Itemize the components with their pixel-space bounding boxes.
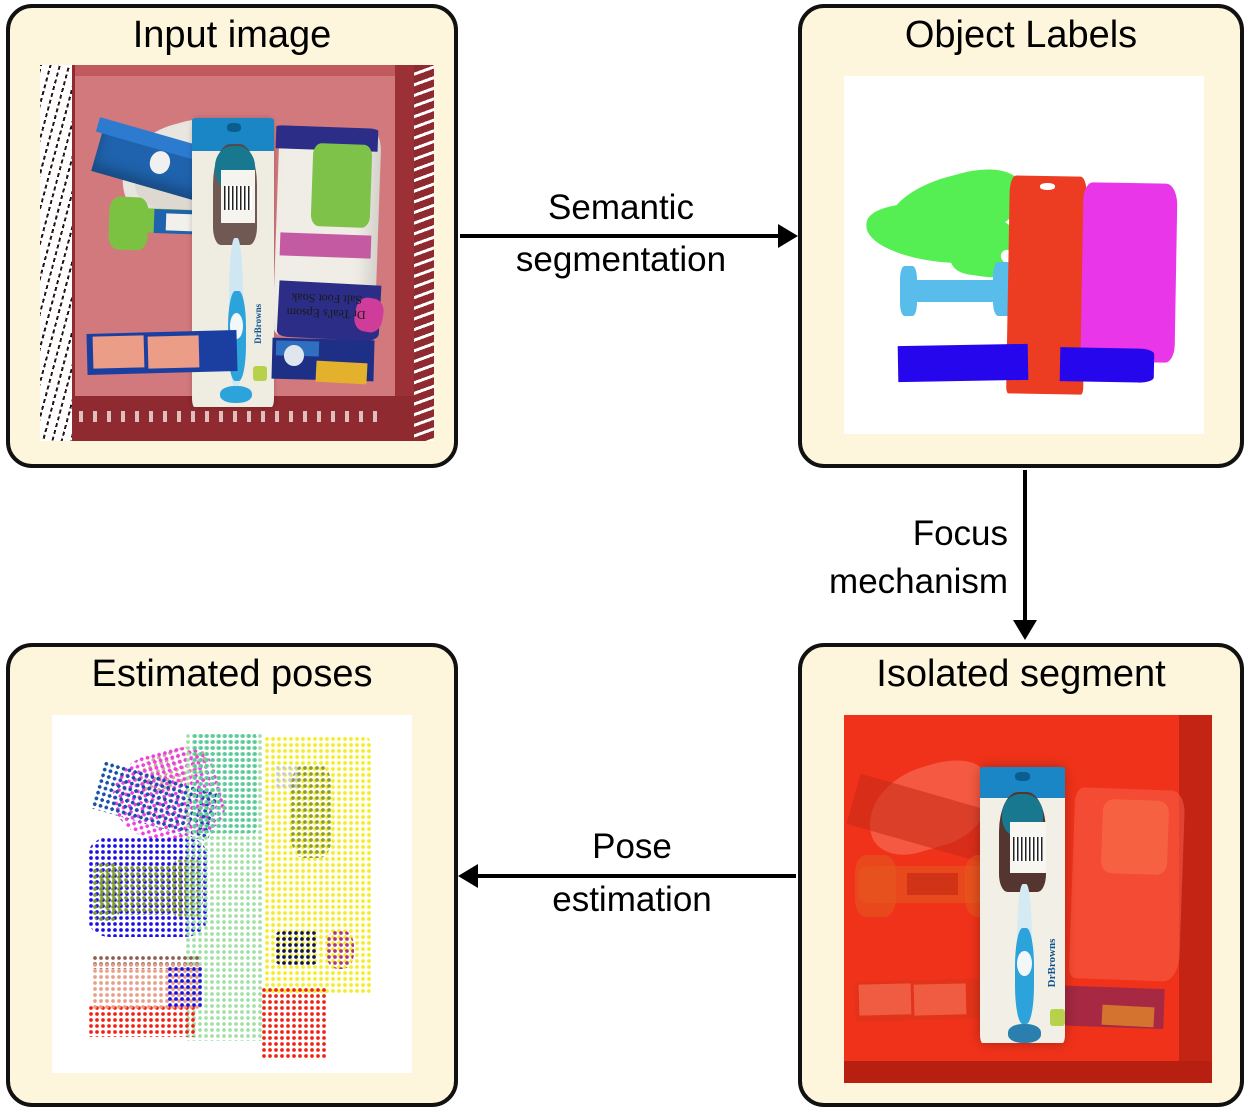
bin-bottom-highlight <box>79 411 386 422</box>
arrow-focus-mechanism-label-top: Focus <box>838 515 1008 552</box>
arrow-pose-estimation-line <box>478 874 796 878</box>
object-epsom-bag-window <box>310 143 372 228</box>
iso-ghost-blue-box-label-2 <box>914 983 966 1016</box>
mask-navy-package <box>1060 347 1154 383</box>
panel-estimated-poses-title: Estimated poses <box>10 655 454 695</box>
isolated-segment-image: DrBrowns <box>844 715 1212 1083</box>
object-blue-box-label-1 <box>93 335 145 368</box>
pose-points-bottle-brush-card-top <box>192 733 257 833</box>
panel-object-labels: Object Labels <box>798 4 1244 468</box>
iso-focus-barcode-label <box>1010 822 1047 874</box>
pose-points-lower-box-labels <box>92 962 200 1009</box>
input-image-photo: DrBrowns Dr Teal's Epsom Salt Foot Soak <box>40 65 434 441</box>
iso-focus-card-hang-hole <box>1015 772 1030 781</box>
object-epsom-bag-text: Dr Teal's Epsom Salt Foot Soak <box>283 236 373 322</box>
pose-points-epsom-bag-window <box>290 765 333 858</box>
object-bottle-brush-barcode-label <box>221 170 254 223</box>
arrow-semantic-segmentation-line <box>460 234 782 238</box>
object-navy-package-circle <box>284 345 304 366</box>
iso-right-shadow <box>1179 715 1212 1083</box>
panel-object-labels-title: Object Labels <box>802 16 1240 56</box>
panel-input-image: Input image <box>6 4 458 468</box>
object-bottle-brush-card-hang-hole <box>227 123 241 131</box>
mask-blue-box-lower <box>898 343 1028 381</box>
pose-points-lower-box-red <box>88 1005 196 1037</box>
mask-epsom-bag <box>1080 183 1177 364</box>
pose-points-navy-package-red <box>261 987 326 1059</box>
depth-noise-left <box>40 65 72 441</box>
iso-focus-foot <box>1008 1024 1041 1042</box>
iso-focus-handle-grip <box>1015 928 1034 1024</box>
object-labels-mask <box>844 76 1204 434</box>
arrow-pose-estimation-label-bottom: estimation <box>458 881 806 918</box>
arrow-focus-mechanism-line <box>1023 470 1027 625</box>
arrow-semantic-segmentation-label-top: Semantic <box>460 189 782 226</box>
iso-focus-brand-text: DrBrowns <box>1046 899 1068 987</box>
estimated-poses-pointcloud <box>52 715 412 1073</box>
iso-focus-handle-inlay <box>1017 951 1032 977</box>
arrow-focus-mechanism-label-bottom: mechanism <box>780 563 1008 600</box>
iso-ghost-epsom-bag-window <box>1100 798 1169 874</box>
object-brand-text-dr-browns: DrBrowns <box>253 261 275 344</box>
object-bottle-brush-foot <box>220 386 252 403</box>
iso-ghost-blue-box-label-1 <box>858 983 910 1016</box>
panel-estimated-poses: Estimated poses <box>6 643 458 1107</box>
pose-points-epsom-bag-magenta-patch <box>326 930 355 969</box>
arrow-focus-mechanism-head <box>1013 620 1037 640</box>
iso-focus-green-badge <box>1050 1009 1065 1026</box>
iso-ghost-navy-package-yellow <box>1101 1004 1154 1027</box>
arrow-pose-estimation-label-top: Pose <box>468 828 796 865</box>
object-navy-package-yellow-label <box>315 361 367 384</box>
iso-bottom-shadow <box>844 1061 1212 1083</box>
pose-points-epsom-bag-navy-patch <box>275 930 318 966</box>
depth-noise-right <box>414 65 434 441</box>
panel-isolated-segment: Isolated segment <box>798 643 1244 1107</box>
arrow-semantic-segmentation-label-bottom: segmentation <box>450 241 792 278</box>
object-blue-box-label-2 <box>148 335 200 368</box>
object-dumbbell-weight-left <box>108 196 149 250</box>
panel-input-image-title: Input image <box>10 16 454 56</box>
iso-ghost-dumbbell-label <box>907 873 959 895</box>
panel-isolated-segment-title: Isolated segment <box>802 655 1240 695</box>
object-bottle-brush-green-badge <box>253 366 267 381</box>
